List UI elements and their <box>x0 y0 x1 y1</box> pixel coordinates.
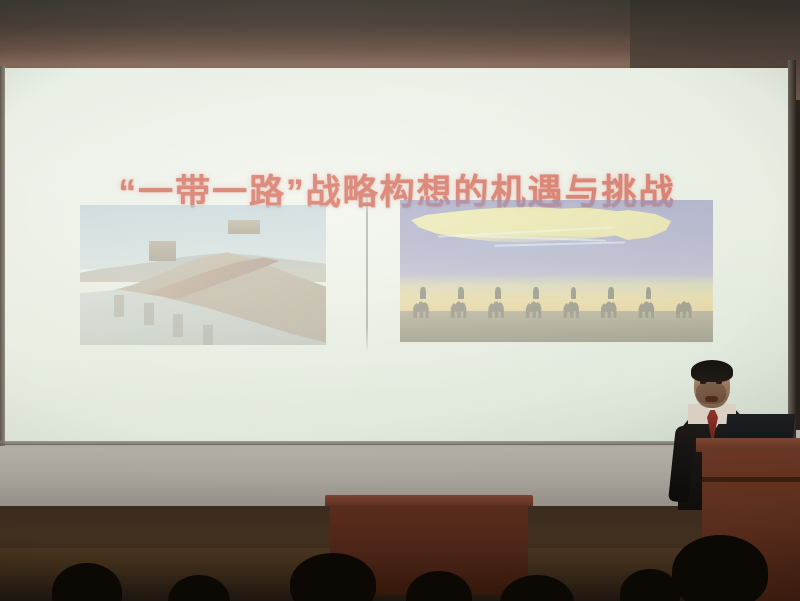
silk-road-map-panel <box>400 200 713 285</box>
rider-silhouette <box>608 287 614 300</box>
rider-silhouette <box>571 287 577 300</box>
rider-silhouette <box>420 287 426 300</box>
screen-left-edge <box>0 66 5 446</box>
great-wall-watchtower <box>149 241 176 261</box>
great-wall-watchtower <box>228 220 260 234</box>
rider-silhouette <box>495 287 501 300</box>
silk-road-map-photo <box>400 200 713 342</box>
great-wall-crenellation <box>114 295 124 317</box>
rider-silhouette <box>533 287 539 300</box>
presenter-hair <box>691 360 733 382</box>
presenter-eye <box>700 381 706 384</box>
lecture-hall-photo: “一带一路”战略构想的机遇与挑战 <box>0 0 800 601</box>
rider-silhouette <box>646 287 652 300</box>
slide-image-divider <box>366 193 368 349</box>
great-wall-crenellation <box>203 325 213 345</box>
presenter-mouth <box>705 396 718 402</box>
screen-right-edge <box>788 60 796 446</box>
rider-silhouette <box>458 287 464 300</box>
audience-head <box>672 535 768 601</box>
great-wall-crenellation <box>144 303 154 325</box>
great-wall-photo <box>80 205 326 345</box>
great-wall-crenellation <box>173 314 183 336</box>
presenter-eye <box>716 381 722 384</box>
desert-ground <box>400 311 713 342</box>
lectern-shadow <box>702 477 800 482</box>
